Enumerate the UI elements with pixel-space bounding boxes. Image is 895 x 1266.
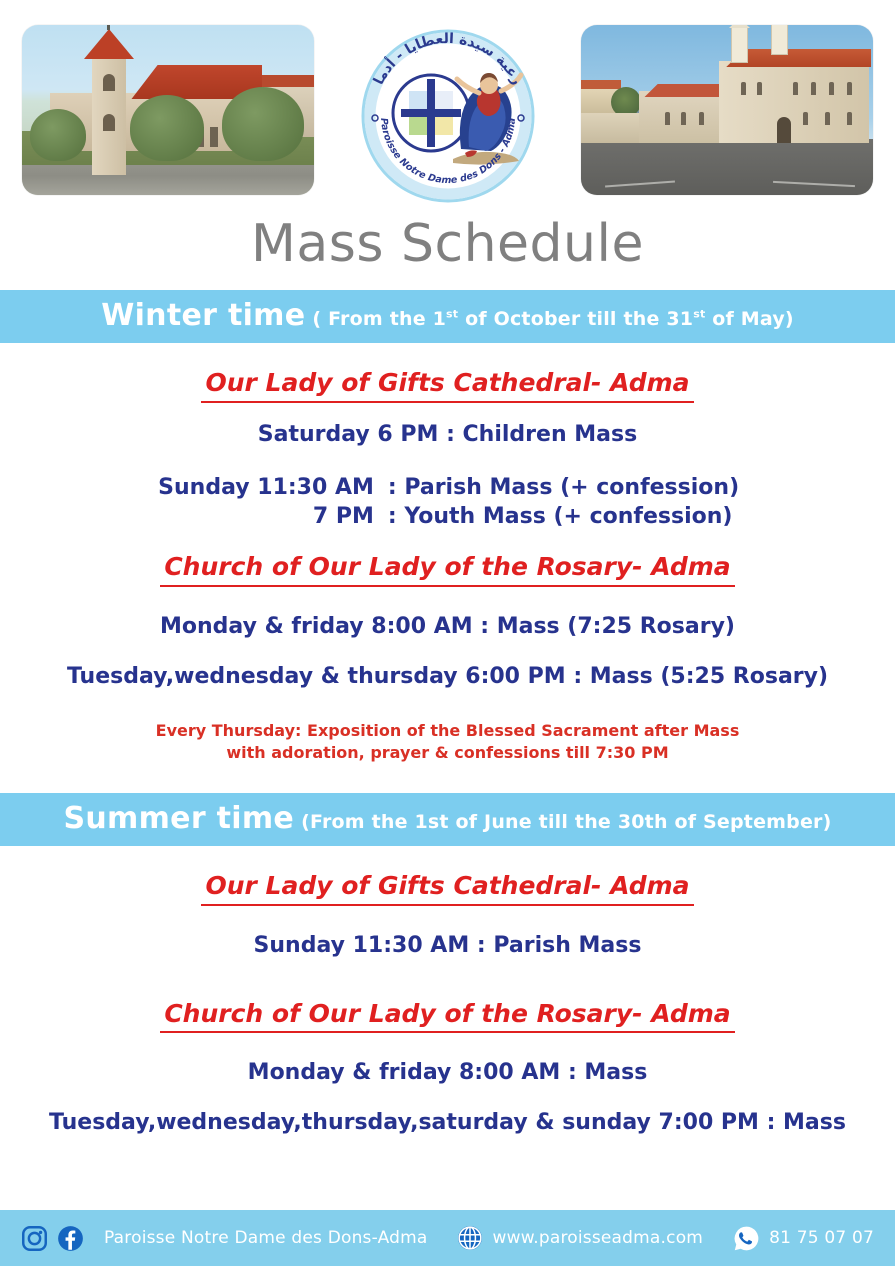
winter-sunday-desc-1: : Parish Mass (+ confession): [388, 474, 739, 503]
parish-logo: رعية سيدة العطايا - أدما Paroisse Notre …: [353, 21, 543, 211]
footer-parish-name: Paroisse Notre Dame des Dons-Adma: [104, 1228, 428, 1248]
footer-website[interactable]: www.paroisseadma.com: [492, 1228, 703, 1248]
winter-sunday-time-1: Sunday 11:30 AM: [156, 474, 388, 503]
winter-range-mid: of October till the 31: [458, 308, 693, 330]
facebook-icon[interactable]: [57, 1225, 84, 1252]
parish-logo-graphic: رعية سيدة العطايا - أدما Paroisse Notre …: [353, 21, 543, 211]
winter-range-sup-1: st: [446, 308, 458, 321]
winter-rosary-line-1: Monday & friday 8:00 AM : Mass (7:25 Ros…: [0, 613, 895, 641]
header: رعية سيدة العطايا - أدما Paroisse Notre …: [0, 0, 895, 212]
photo-tree: [30, 109, 86, 161]
photo-tree: [130, 95, 204, 161]
winter-cathedral-section: Our Lady of Gifts Cathedral- Adma Saturd…: [0, 369, 895, 531]
photo-rosary-church: [22, 25, 314, 195]
summer-season-banner: Summer time(From the 1st of June till th…: [0, 793, 895, 846]
winter-cathedral-heading: Our Lady of Gifts Cathedral- Adma: [201, 369, 693, 403]
winter-range-suffix: of May): [705, 308, 793, 330]
page-title: Mass Schedule: [0, 212, 895, 290]
winter-range-prefix: ( From the 1: [312, 308, 446, 330]
photo-gifts-cathedral: [581, 25, 873, 195]
winter-cathedral-sunday-block: Sunday 11:30 AM : Parish Mass (+ confess…: [156, 474, 739, 531]
winter-date-range: ( From the 1st of October till the 31st …: [312, 308, 793, 330]
whatsapp-icon[interactable]: [733, 1225, 760, 1252]
winter-season-banner: Winter time( From the 1st of October til…: [0, 290, 895, 343]
winter-range-sup-2: st: [693, 308, 705, 321]
instagram-icon[interactable]: [21, 1225, 48, 1252]
winter-thursday-note-line-2: with adoration, prayer & confessions til…: [0, 742, 895, 764]
winter-rosary-section: Church of Our Lady of the Rosary- Adma M…: [0, 553, 895, 763]
winter-cathedral-saturday: Saturday 6 PM : Children Mass: [0, 421, 895, 449]
cross-icon: [107, 25, 110, 30]
summer-rosary-section: Church of Our Lady of the Rosary- Adma M…: [0, 1000, 895, 1137]
photo-bell-arch: [103, 114, 115, 131]
winter-season-label: Winter time: [101, 298, 305, 333]
photo-tree: [222, 87, 304, 161]
summer-cathedral-section: Our Lady of Gifts Cathedral- Adma Sunday…: [0, 872, 895, 959]
summer-cathedral-heading: Our Lady of Gifts Cathedral- Adma: [201, 872, 693, 906]
winter-sunday-time-2: 7 PM: [156, 503, 388, 532]
photo-window-group: [581, 25, 873, 195]
summer-season-label: Summer time: [63, 801, 294, 836]
summer-rosary-line-2: Tuesday,wednesday,thursday,saturday & su…: [0, 1109, 895, 1137]
winter-sunday-desc-2: : Youth Mass (+ confession): [388, 503, 733, 532]
summer-rosary-line-1: Monday & friday 8:00 AM : Mass: [0, 1059, 895, 1087]
globe-icon[interactable]: [457, 1225, 483, 1251]
photo-window: [210, 127, 218, 147]
winter-rosary-heading: Church of Our Lady of the Rosary- Adma: [160, 553, 734, 587]
photo-bell-arch: [103, 74, 115, 91]
winter-rosary-line-2: Tuesday,wednesday & thursday 6:00 PM : M…: [0, 663, 895, 691]
footer-phone[interactable]: 81 75 07 07: [769, 1228, 874, 1248]
summer-date-range: (From the 1st of June till the 30th of S…: [301, 811, 831, 833]
winter-thursday-note-line-1: Every Thursday: Exposition of the Blesse…: [0, 720, 895, 742]
winter-sunday-row-2: 7 PM : Youth Mass (+ confession): [156, 503, 739, 532]
summer-cathedral-line-1: Sunday 11:30 AM : Parish Mass: [0, 932, 895, 960]
footer-contact-bar: Paroisse Notre Dame des Dons-Adma www.pa…: [0, 1210, 895, 1266]
winter-sunday-row-1: Sunday 11:30 AM : Parish Mass (+ confess…: [156, 474, 739, 503]
photo-tower-roof: [84, 29, 134, 59]
summer-rosary-heading: Church of Our Lady of the Rosary- Adma: [160, 1000, 734, 1034]
